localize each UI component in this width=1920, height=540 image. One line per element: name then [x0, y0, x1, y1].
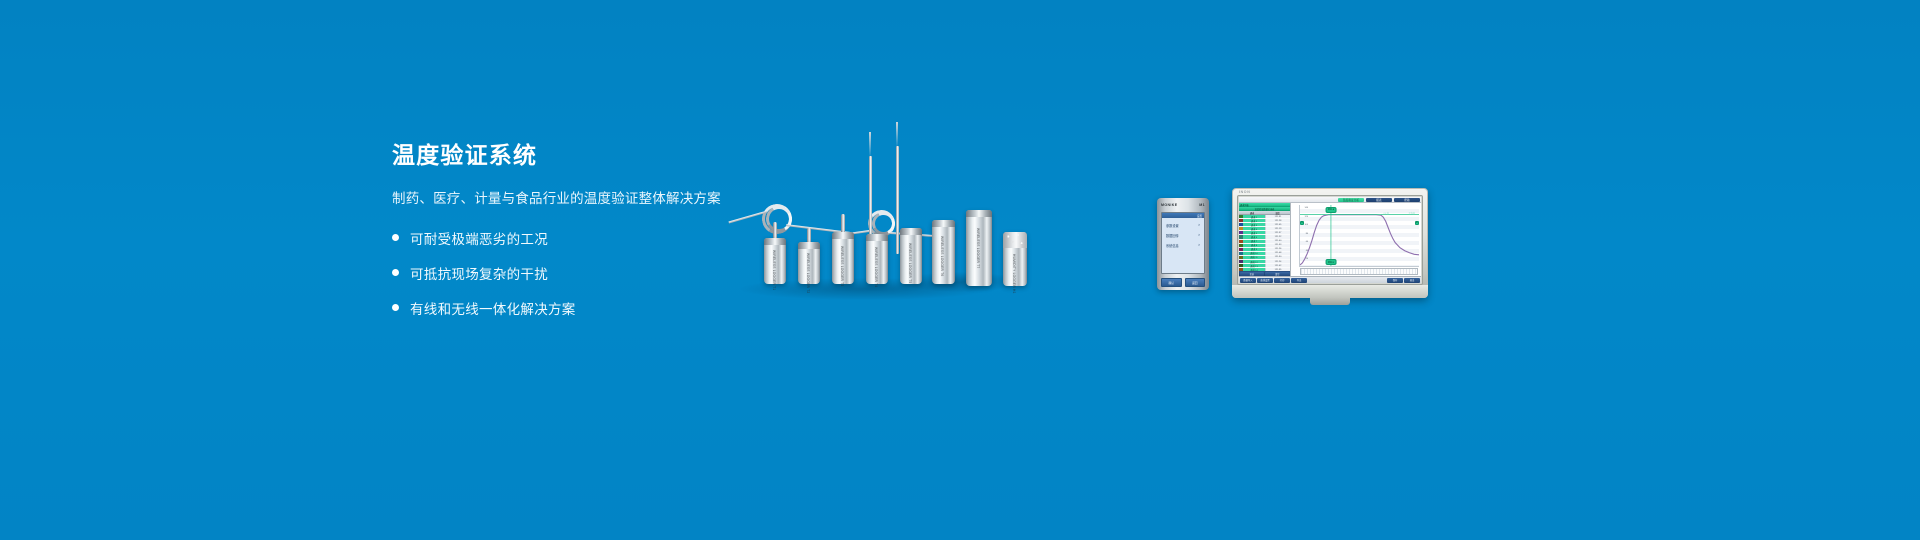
channel-value-cell: 121.48 [1265, 252, 1290, 255]
temperature-curve-svg [1300, 205, 1419, 266]
device-button-row: 确认 返回 [1161, 278, 1205, 287]
channel-name-cell: 通道 2 [1243, 219, 1265, 222]
humidity-logger: HUMIDITY LOGGER H1 [1003, 232, 1027, 286]
logger-cap [932, 220, 955, 227]
select-all-button[interactable]: 全选 [1240, 272, 1265, 276]
channel-value-cell: 121.33 [1265, 244, 1290, 247]
wireless-logger: WIRELESS LOGGER T6 [932, 220, 955, 284]
sintered-filter-cap [1003, 232, 1027, 248]
clear-button[interactable]: 清空 [1265, 272, 1290, 276]
device-confirm-button[interactable]: 确认 [1161, 278, 1182, 287]
logger-stub [841, 214, 845, 234]
chart-panel: 14012010080604020 S E 游标 A 游标 B F0 值 [1291, 203, 1421, 276]
monitor-inner-frame: 温度验证分析 报表 帮助 通道列表 温度验证数据记录表 通道 温度 通道 112… [1237, 195, 1423, 285]
device-model-label: M1 [1199, 203, 1205, 207]
validation-software-monitor: INON 温度验证分析 报表 帮助 通道列表 温度验证数据记录表 通 [1232, 188, 1428, 298]
logger-label: WIRELESS LOGGER T3 [839, 246, 844, 286]
channel-name-cell: 通道 3 [1243, 223, 1265, 226]
list-item: WIRELESS LOGGER T6 [932, 220, 955, 284]
wireless-logger: WIRELESS LOGGER T3 [832, 232, 854, 284]
curve-settings-button[interactable]: 曲线设置 [1257, 278, 1273, 283]
bullet-label: 可抵抗现场复杂的干扰 [410, 263, 548, 283]
list-item: WIRELESS LOGGER T4 [866, 234, 888, 284]
logger-label: WIRELESS LOGGER T7 [975, 228, 980, 268]
channel-value-cell: 121.45 [1265, 223, 1290, 226]
channel-name-cell: 通道 6 [1243, 235, 1265, 238]
channel-value-cell: 121.37 [1265, 231, 1290, 234]
bullet-dot-icon [392, 234, 399, 241]
needle-tip-icon [896, 122, 898, 148]
wireless-logger: WIRELESS LOGGER T2 [798, 242, 820, 284]
logger-label: WIRELESS LOGGER T1 [771, 250, 776, 290]
device-menu-label: 数据回传 [1166, 233, 1179, 238]
logger-cap [866, 234, 888, 241]
device-menu-item[interactable]: 参数设置 > [1162, 223, 1204, 228]
x-axis-scrollbar[interactable] [1300, 268, 1418, 275]
tab-analysis[interactable]: 温度验证分析 [1338, 198, 1364, 202]
channel-value-cell: 121.22 [1265, 235, 1290, 238]
device-brand-bar: MONIKE M1 [1157, 198, 1209, 211]
handheld-reader-device[interactable]: MONIKE M1 设置 参数设置 > 数据回传 > 系统信息 > 确认 返回 [1157, 198, 1209, 290]
list-item: WIRELESS LOGGER T7 [966, 210, 992, 286]
toolbar-gap [1308, 278, 1386, 283]
channel-value-cell: 121.30 [1265, 256, 1290, 259]
hero-banner: 温度验证系统 制药、医疗、计量与食品行业的温度验证整体解决方案 可耐受极端恶劣的… [0, 0, 1920, 540]
channel-value-cell: 121.26 [1265, 248, 1290, 251]
wireless-logger: WIRELESS LOGGER T1 [764, 238, 786, 284]
bullet-label: 可耐受极端恶劣的工况 [410, 228, 548, 248]
wireless-logger: WIRELESS LOGGER T7 [966, 210, 992, 286]
chevron-right-icon: > [1198, 233, 1200, 238]
logger-cap [900, 228, 922, 235]
software-body: 通道列表 温度验证数据记录表 通道 温度 通道 1121.31通道 2121.2… [1239, 203, 1421, 276]
tab-report[interactable]: 报表 [1366, 198, 1392, 202]
channel-value-cell: 121.19 [1265, 227, 1290, 230]
software-screen: 温度验证分析 报表 帮助 通道列表 温度验证数据记录表 通道 温度 通道 112… [1239, 197, 1421, 283]
print-button[interactable]: 打印 [1274, 278, 1290, 283]
wireless-logger: WIRELESS LOGGER T5 [900, 228, 922, 284]
logger-label: WIRELESS LOGGER T2 [805, 253, 810, 293]
column-header-temperature: 温度 [1265, 211, 1290, 215]
save-button[interactable]: 保存 [1387, 278, 1403, 283]
wireless-logger: WIRELESS LOGGER T4 [866, 234, 888, 284]
channel-value-cell: 121.42 [1265, 264, 1290, 267]
logger-label: WIRELESS LOGGER T5 [907, 243, 912, 283]
channel-name-cell: 通道 5 [1243, 231, 1265, 234]
table-rows-container[interactable]: 通道 1121.31通道 2121.28通道 3121.45通道 4121.19… [1239, 215, 1290, 271]
device-screen-titlebar: 设置 [1162, 213, 1204, 218]
device-brand-label: MONIKE [1161, 203, 1177, 207]
logger-label: HUMIDITY LOGGER H1 [1011, 254, 1016, 294]
cursor-top-label[interactable]: 游标 A [1325, 207, 1336, 213]
channel-name-cell: 通道 7 [1243, 240, 1265, 243]
channel-name-cell: 通道 12 [1243, 260, 1265, 263]
device-menu-item[interactable]: 数据回传 > [1162, 233, 1204, 238]
list-item: WIRELESS LOGGER T3 [832, 232, 854, 284]
logger-cap [764, 238, 786, 245]
device-screen[interactable]: 设置 参数设置 > 数据回传 > 系统信息 > [1161, 212, 1205, 274]
average-value-label: 平均值 [1408, 211, 1415, 215]
toolbar-spacer [1239, 197, 1337, 202]
bullet-dot-icon [392, 304, 399, 311]
column-header-channel: 通道 [1239, 211, 1265, 215]
tab-help[interactable]: 帮助 [1394, 198, 1420, 202]
needle-shaft [896, 146, 899, 254]
device-back-button[interactable]: 返回 [1185, 278, 1206, 287]
cursor-bottom-label[interactable]: 游标 B [1325, 259, 1336, 265]
channel-name-cell: 通道 1 [1243, 215, 1265, 218]
logger-cap [798, 242, 820, 249]
export-button[interactable]: 导出 [1291, 278, 1307, 283]
chart-plot-area[interactable]: 14012010080604020 S E 游标 A 游标 B F0 值 [1299, 205, 1419, 267]
exit-button[interactable]: 退出 [1404, 278, 1420, 283]
logger-label: WIRELESS LOGGER T4 [873, 247, 878, 287]
logger-cap [832, 232, 854, 239]
import-data-button[interactable]: 数据导入 [1240, 278, 1256, 283]
list-item: WIRELESS LOGGER T2 [798, 242, 820, 284]
limit-end-marker[interactable]: E [1415, 221, 1419, 225]
software-bottom-toolbar: 数据导入 曲线设置 打印 导出 保存 退出 [1239, 276, 1421, 283]
channel-name-cell: 通道 11 [1243, 256, 1265, 259]
monitor-logo: INON [1239, 190, 1250, 194]
channel-name-cell: 通道 9 [1243, 248, 1265, 251]
logger-label: WIRELESS LOGGER T6 [939, 236, 944, 276]
channel-value-cell: 121.28 [1265, 219, 1290, 222]
device-menu-label: 参数设置 [1166, 223, 1179, 228]
needle-tip-icon [869, 132, 871, 158]
chevron-right-icon: > [1198, 223, 1200, 228]
coiled-probe [728, 198, 848, 248]
list-item: HUMIDITY LOGGER H1 [1003, 232, 1027, 286]
logger-cap [966, 210, 992, 217]
bullet-dot-icon [392, 269, 399, 276]
device-menu-label: 系统信息 [1166, 243, 1179, 248]
f0-value-label: F0 值 [1384, 211, 1389, 215]
channel-name-cell: 通道 10 [1243, 252, 1265, 255]
channel-name-cell: 通道 8 [1243, 244, 1265, 247]
list-item: WIRELESS LOGGER T1 [764, 238, 786, 284]
device-menu-item[interactable]: 系统信息 > [1162, 243, 1204, 248]
limit-start-marker[interactable]: S [1300, 221, 1304, 225]
monitor-stand [1310, 297, 1350, 305]
list-item: WIRELESS LOGGER T5 [900, 228, 922, 284]
channel-table-panel: 通道列表 温度验证数据记录表 通道 温度 通道 1121.31通道 2121.2… [1239, 203, 1291, 276]
channel-name-cell: 通道 13 [1243, 264, 1265, 267]
channel-value-cell: 121.31 [1265, 215, 1290, 218]
channel-name-cell: 通道 4 [1243, 227, 1265, 230]
temperature-curve [1300, 215, 1419, 265]
chevron-right-icon: > [1198, 243, 1200, 248]
device-screen-title: 设置 [1197, 214, 1202, 218]
channel-value-cell: 121.24 [1265, 260, 1290, 263]
channel-value-cell: 121.40 [1265, 240, 1290, 243]
bullet-label: 有线和无线一体化解决方案 [410, 298, 576, 318]
